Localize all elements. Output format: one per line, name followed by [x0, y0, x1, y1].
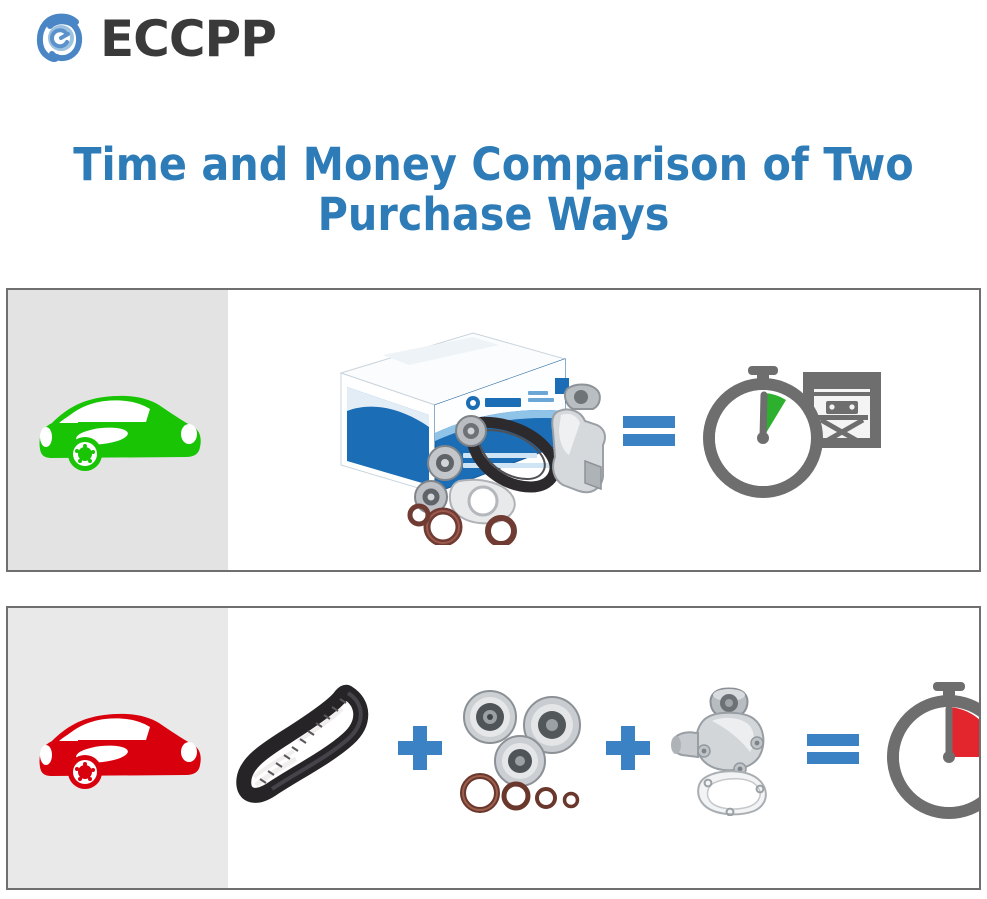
stopwatch-icon	[893, 682, 981, 813]
car-cell-green	[8, 290, 228, 570]
stopwatch-with-garage-icon	[869, 676, 981, 821]
stopwatch-with-garage-icon	[685, 360, 885, 500]
car-side-icon	[26, 688, 211, 808]
car-side-icon	[26, 370, 211, 490]
plus-icon	[392, 720, 448, 776]
page-title-line1: Time and Money Comparison of Two	[39, 140, 947, 190]
comparison-panel-complete-kit	[6, 288, 981, 572]
eccpp-hexagon-spiral-icon	[30, 8, 92, 70]
pulleys-and-seals-icon	[454, 683, 594, 813]
stopwatch-icon	[709, 366, 817, 492]
brand-wordmark: ECCPP	[100, 14, 276, 64]
car-cell-red	[8, 608, 228, 888]
timing-belt-icon	[236, 681, 386, 816]
page-title: Time and Money Comparison of Two Purchas…	[39, 140, 947, 240]
water-pump-icon	[662, 681, 797, 816]
content-cell-complete-kit	[228, 290, 979, 570]
brand-header: ECCPP	[30, 8, 276, 70]
page-title-line2: Purchase Ways	[39, 190, 947, 240]
plus-icon	[600, 720, 656, 776]
equals-icon	[619, 402, 679, 458]
comparison-panel-separate-parts	[6, 606, 981, 890]
content-cell-separate-parts	[228, 608, 981, 888]
eccpp-timing-belt-kit-box-icon	[323, 315, 613, 545]
equals-icon	[803, 720, 863, 776]
